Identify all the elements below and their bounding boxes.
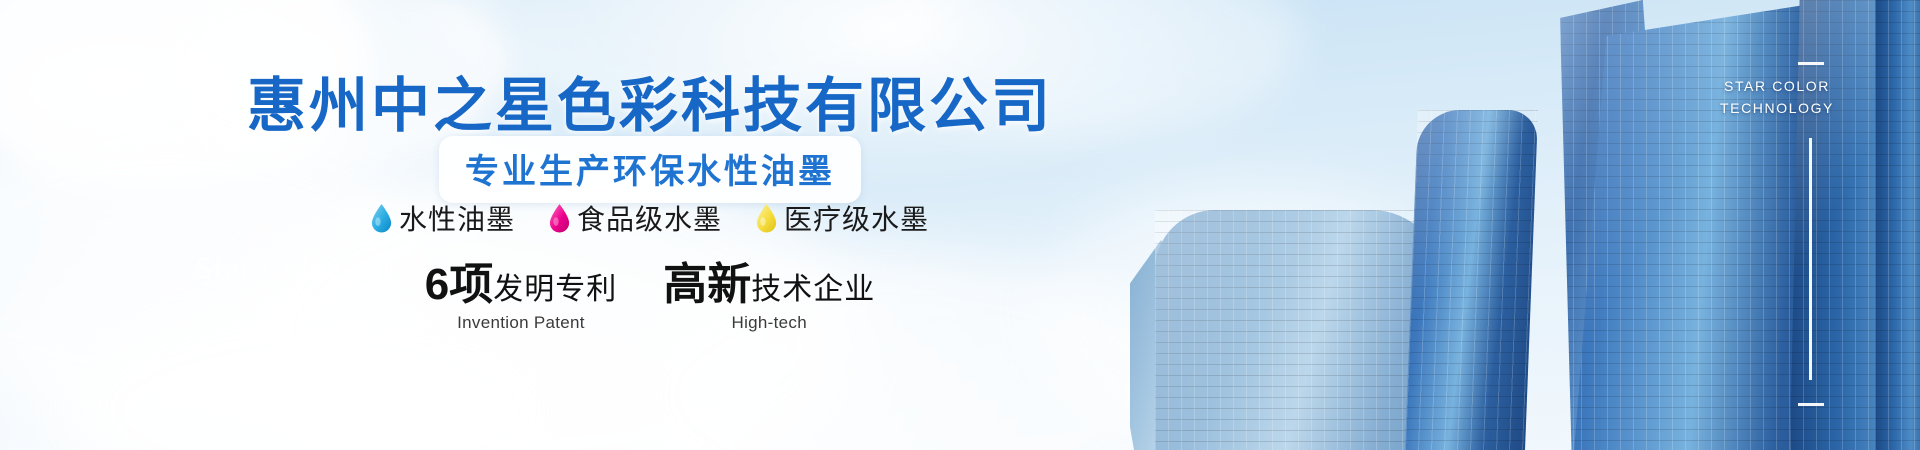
feature-label: 水性油墨 <box>399 198 515 238</box>
water-drop-icon <box>371 204 392 233</box>
feature-label: 医疗级水墨 <box>784 198 929 238</box>
caption-rule-top <box>1798 62 1824 65</box>
badge-rest: 技术企业 <box>751 273 875 306</box>
badge-rest: 发明专利 <box>493 273 617 306</box>
badge-english-text: Invention Patent <box>425 313 617 333</box>
promo-banner: Star Color STAR COLOR TECHNOLOGY 惠州中之星 <box>0 0 1920 450</box>
badge-chinese-text: 6项发明专利 <box>425 262 617 308</box>
feature-label: 食品级水墨 <box>577 198 722 238</box>
brand-caption: STAR COLOR TECHNOLOGY <box>1682 76 1872 119</box>
brand-caption-line2: TECHNOLOGY <box>1682 98 1872 120</box>
building-edge-sliver <box>1875 0 1920 450</box>
water-drop-icon <box>756 204 777 233</box>
feature-list: 水性油墨 食品级水墨 <box>0 198 1300 238</box>
feature-item-water-based-ink: 水性油墨 <box>371 198 515 238</box>
badge-high-tech: 高新技术企业 High-tech <box>663 262 875 333</box>
badge-chinese-text: 高新技术企业 <box>663 262 875 308</box>
badge-english-text: High-tech <box>663 313 875 333</box>
brand-caption-line1: STAR COLOR <box>1682 76 1872 98</box>
company-title: 惠州中之星色彩科技有限公司 <box>0 58 1300 143</box>
water-drop-icon <box>549 204 570 233</box>
building-center-tower <box>1405 110 1538 450</box>
subtitle-pill: 专业生产环保水性油墨 <box>439 136 861 203</box>
caption-rule-vertical <box>1809 138 1812 380</box>
feature-item-medical-grade-ink: 医疗级水墨 <box>756 198 929 238</box>
banner-content: 惠州中之星色彩科技有限公司 专业生产环保水性油墨 水性油墨 <box>0 0 1300 450</box>
badge-list: 6项发明专利 Invention Patent 高新技术企业 High-tech <box>0 262 1300 333</box>
badge-invention-patent: 6项发明专利 Invention Patent <box>425 262 617 333</box>
caption-rule-bottom <box>1798 403 1824 406</box>
badge-highlight: 6项 <box>425 260 493 309</box>
badge-highlight: 高新 <box>663 260 751 309</box>
feature-item-food-grade-ink: 食品级水墨 <box>549 198 722 238</box>
